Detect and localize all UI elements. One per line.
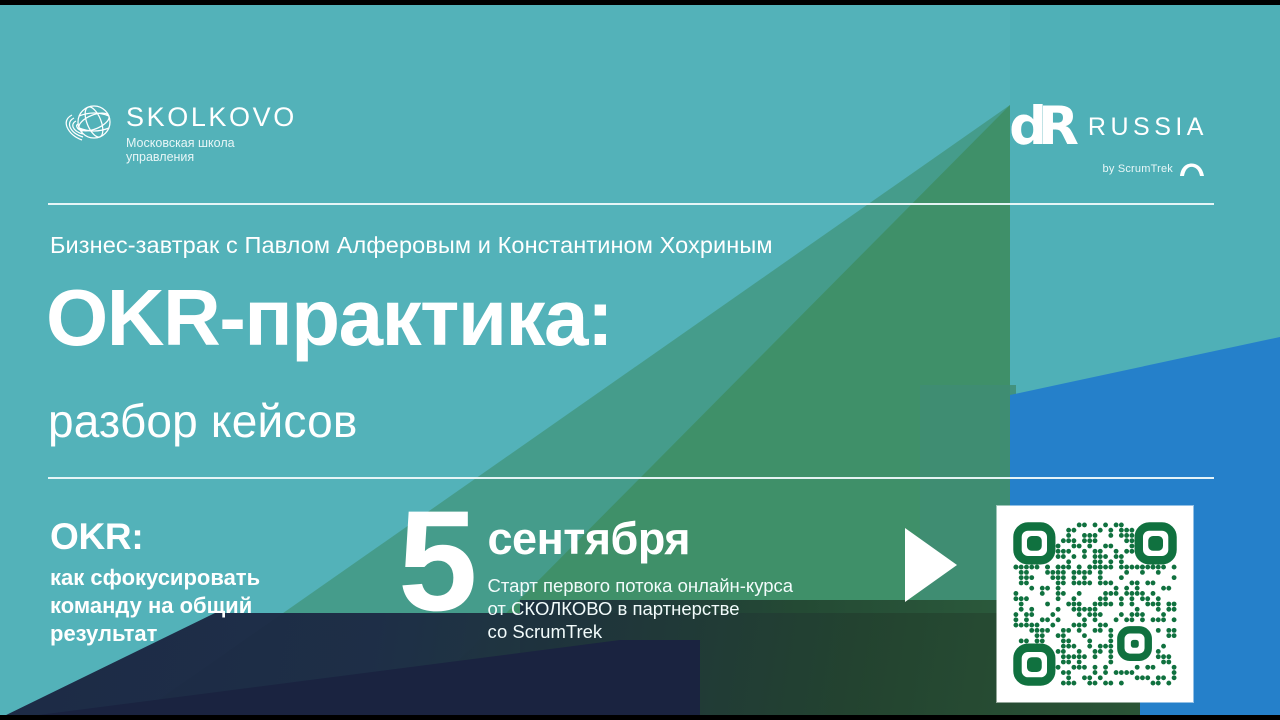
okr-pitch-body: как сфокусировать команду на общий резул… bbox=[50, 564, 350, 648]
event-month: сентября bbox=[488, 516, 794, 561]
presenters-line: Бизнес-завтрак с Павлом Алферовым и Конс… bbox=[50, 232, 773, 259]
dr-russia-logo: dR RUSSIA by ScrumTrek bbox=[1009, 103, 1208, 177]
skolkovo-subtitle-line2: управления bbox=[126, 150, 297, 164]
skolkovo-subtitle-line1: Московская школа bbox=[126, 136, 297, 150]
promo-slide: SKOLKOVO Московская школа управления dR … bbox=[0, 0, 1280, 720]
dr-region-label: RUSSIA bbox=[1088, 113, 1208, 142]
scrumtrek-swoosh-icon bbox=[1178, 161, 1206, 177]
dr-monogram-r: R bbox=[1038, 96, 1074, 157]
dr-by-label: by ScrumTrek bbox=[1103, 163, 1173, 175]
skolkovo-wordmark: SKOLKOVO Московская школа управления bbox=[126, 100, 297, 164]
event-blurb: Старт первого потока онлайн-курса от СКО… bbox=[488, 574, 794, 643]
letterbox-top bbox=[0, 0, 1280, 5]
okr-pitch-heading: OKR: bbox=[50, 518, 350, 555]
divider-middle bbox=[48, 477, 1214, 479]
event-blurb-line3: со ScrumTrek bbox=[488, 620, 794, 643]
skolkovo-name: SKOLKOVO bbox=[126, 104, 297, 131]
page-title: OKR-практика: bbox=[46, 278, 612, 358]
event-day: 5 bbox=[398, 506, 474, 618]
event-blurb-line1: Старт первого потока онлайн-курса bbox=[488, 574, 794, 597]
okr-pitch: OKR: как сфокусировать команду на общий … bbox=[50, 518, 350, 648]
event-date-details: сентября Старт первого потока онлайн-кур… bbox=[488, 506, 794, 643]
skolkovo-subtitle: Московская школа управления bbox=[126, 136, 297, 164]
letterbox-bottom bbox=[0, 715, 1280, 720]
dr-monogram: dR bbox=[1009, 103, 1074, 152]
skolkovo-logo: SKOLKOVO Московская школа управления bbox=[58, 100, 297, 164]
qr-code-icon[interactable] bbox=[1008, 517, 1182, 691]
dr-by-line: by ScrumTrek bbox=[1009, 161, 1206, 177]
qr-code-svg bbox=[1008, 517, 1182, 691]
qr-code-card[interactable] bbox=[997, 506, 1193, 702]
slide-content: SKOLKOVO Московская школа управления dR … bbox=[0, 0, 1280, 720]
play-triangle-icon bbox=[905, 528, 957, 602]
event-blurb-line2: от СКОЛКОВО в партнерстве bbox=[488, 597, 794, 620]
event-date-block: 5 сентября Старт первого потока онлайн-к… bbox=[398, 506, 793, 643]
globe-ripple-icon bbox=[58, 100, 114, 152]
page-subtitle: разбор кейсов bbox=[48, 398, 358, 444]
dr-monogram-d: d bbox=[1009, 96, 1038, 157]
divider-top bbox=[48, 203, 1214, 205]
dr-russia-row: dR RUSSIA bbox=[1009, 103, 1208, 152]
